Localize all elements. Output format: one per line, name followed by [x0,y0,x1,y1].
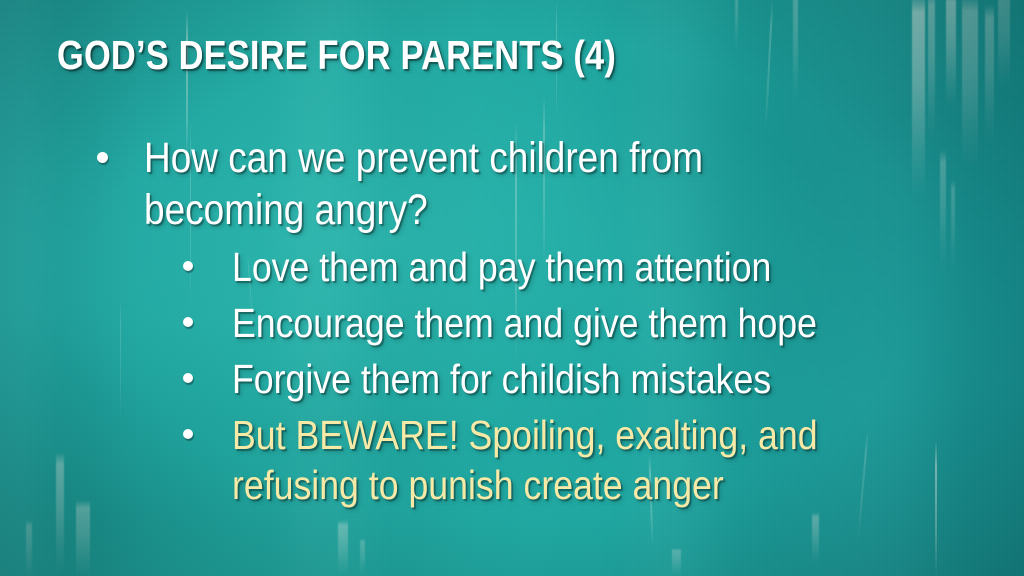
text-line: becoming angry? [144,184,884,236]
list-item-text-highlighted: But BEWARE! Spoiling, exalting, and refu… [232,410,921,510]
list-item-text: How can we prevent children from becomin… [144,132,884,236]
list-item-text: Forgive them for childish mistakes [232,354,921,404]
text-line: Forgive them for childish mistakes [232,354,921,404]
list-item-text: Love them and pay them attention [232,242,921,292]
slide-content: GOD’S DESIRE FOR PARENTS (4) How can we … [0,0,1024,576]
bullet-dot-icon [183,429,193,439]
text-line: Encourage them and give them hope [232,298,921,348]
list-item: How can we prevent children from becomin… [0,132,1024,236]
text-line: refusing to punish create anger [232,460,921,510]
text-line: But BEWARE! Spoiling, exalting, and [232,410,921,460]
text-line: How can we prevent children from [144,132,884,184]
bullet-list: How can we prevent children from becomin… [0,132,1024,510]
bullet-dot-icon [183,373,193,383]
bullet-dot-icon [183,317,193,327]
presentation-slide: GOD’S DESIRE FOR PARENTS (4) How can we … [0,0,1024,576]
list-item: Forgive them for childish mistakes [0,354,1024,404]
list-item: But BEWARE! Spoiling, exalting, and refu… [0,410,1024,510]
page-title: GOD’S DESIRE FOR PARENTS (4) [57,31,616,79]
bullet-dot-icon [183,261,193,271]
text-line: Love them and pay them attention [232,242,921,292]
bullet-dot-icon [97,152,108,163]
list-item: Love them and pay them attention [0,242,1024,292]
list-item-text: Encourage them and give them hope [232,298,921,348]
list-item: Encourage them and give them hope [0,298,1024,348]
